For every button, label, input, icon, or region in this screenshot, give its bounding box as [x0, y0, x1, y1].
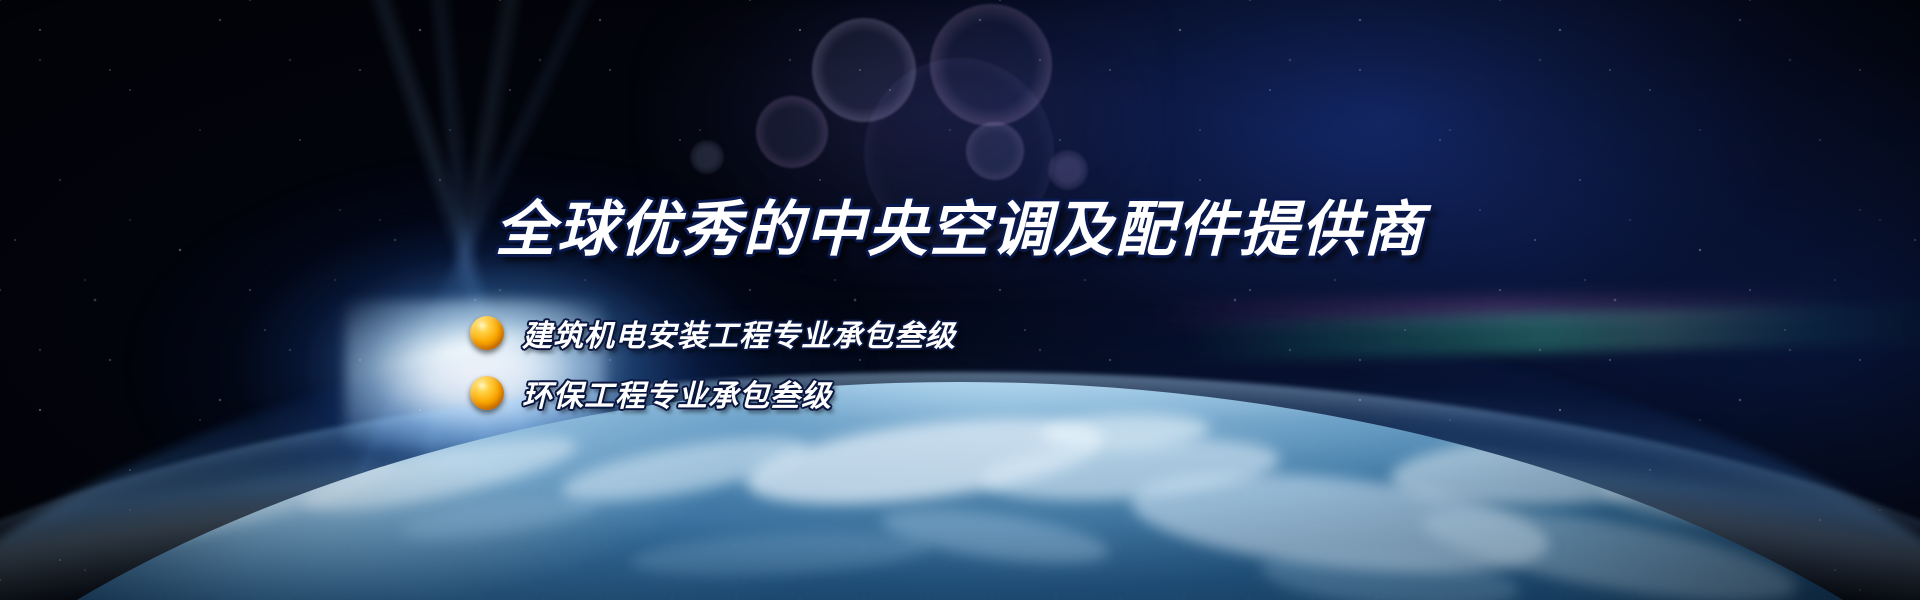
gold-sphere-bullet-icon	[470, 376, 504, 410]
gold-sphere-bullet-icon	[470, 316, 504, 350]
hero-banner: 全球优秀的中央空调及配件提供商 建筑机电安装工程专业承包叁级 环保工程专业承包叁…	[0, 0, 1920, 600]
list-item-label: 环保工程专业承包叁级	[522, 371, 832, 415]
banner-headline: 全球优秀的中央空调及配件提供商	[0, 200, 1920, 260]
list-item: 环保工程专业承包叁级	[470, 372, 956, 414]
banner-content: 全球优秀的中央空调及配件提供商 建筑机电安装工程专业承包叁级 环保工程专业承包叁…	[0, 0, 1920, 600]
list-item: 建筑机电安装工程专业承包叁级	[470, 312, 956, 354]
qualification-list: 建筑机电安装工程专业承包叁级 环保工程专业承包叁级	[470, 312, 956, 414]
list-item-label: 建筑机电安装工程专业承包叁级	[522, 311, 956, 355]
